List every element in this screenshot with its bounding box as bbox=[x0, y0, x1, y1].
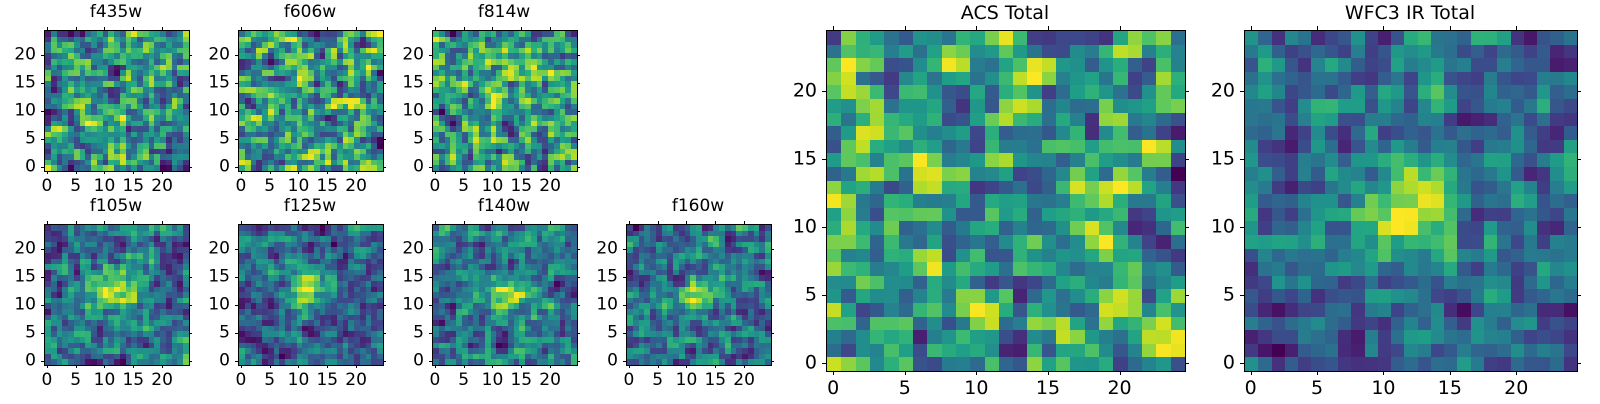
y-tick bbox=[41, 139, 44, 140]
y-tick-label: 20 bbox=[198, 47, 230, 64]
x-tick-label: 20 bbox=[539, 372, 561, 389]
x-tick-top bbox=[298, 221, 299, 224]
y-tick bbox=[429, 111, 432, 112]
x-tick-label: 5 bbox=[70, 178, 81, 195]
y-tick-label: 10 bbox=[1204, 218, 1235, 237]
panel-f814w: f814w0510152005101520 bbox=[392, 4, 616, 204]
y-tick-right bbox=[771, 249, 774, 250]
y-tick-label: 10 bbox=[392, 103, 424, 120]
y-tick-right bbox=[383, 139, 386, 140]
x-tick-label: 20 bbox=[151, 372, 173, 389]
x-tick-label: 15 bbox=[704, 372, 726, 389]
y-tick-right bbox=[383, 305, 386, 306]
y-tick bbox=[429, 83, 432, 84]
y-tick-right bbox=[577, 83, 580, 84]
x-tick-label: 5 bbox=[70, 372, 81, 389]
x-tick bbox=[298, 171, 299, 174]
x-tick-top bbox=[47, 27, 48, 30]
x-tick bbox=[241, 365, 242, 368]
x-tick-label: 15 bbox=[510, 178, 532, 195]
y-tick-label: 0 bbox=[786, 354, 817, 373]
pixel-grid bbox=[1245, 31, 1577, 371]
x-tick-label: 5 bbox=[1311, 379, 1323, 398]
y-tick-right bbox=[577, 277, 580, 278]
x-tick-label: 5 bbox=[458, 372, 469, 389]
y-tick-label: 10 bbox=[392, 297, 424, 314]
x-tick bbox=[464, 171, 465, 174]
heatmap-wfc3_ir_total bbox=[1244, 30, 1578, 372]
x-tick-label: 10 bbox=[288, 372, 310, 389]
x-tick-label: 0 bbox=[1245, 379, 1257, 398]
panel-wfc3_ir_total: WFC3 IR Total0510152005101520 bbox=[1204, 4, 1600, 404]
y-tick bbox=[822, 295, 826, 296]
x-tick-top bbox=[76, 27, 77, 30]
y-tick bbox=[822, 91, 826, 92]
y-tick bbox=[41, 305, 44, 306]
x-tick-top bbox=[133, 221, 134, 224]
y-tick-label: 5 bbox=[586, 325, 618, 342]
y-tick-right bbox=[383, 111, 386, 112]
y-tick-right bbox=[771, 277, 774, 278]
y-tick-label: 20 bbox=[392, 47, 424, 64]
x-tick-label: 15 bbox=[122, 372, 144, 389]
x-tick bbox=[715, 365, 716, 368]
x-tick bbox=[270, 365, 271, 368]
y-tick bbox=[429, 333, 432, 334]
x-tick-top bbox=[47, 221, 48, 224]
x-tick-top bbox=[464, 221, 465, 224]
x-tick bbox=[550, 365, 551, 368]
x-tick-label: 0 bbox=[623, 372, 634, 389]
x-tick-label: 0 bbox=[429, 372, 440, 389]
y-tick-label: 0 bbox=[4, 353, 36, 370]
x-tick bbox=[492, 365, 493, 368]
y-tick bbox=[41, 333, 44, 334]
y-tick bbox=[235, 111, 238, 112]
y-tick-right bbox=[189, 167, 192, 168]
x-tick-top bbox=[270, 221, 271, 224]
panel-f105w: f105w0510152005101520 bbox=[4, 198, 228, 398]
x-tick bbox=[47, 171, 48, 174]
y-tick bbox=[235, 277, 238, 278]
x-tick bbox=[76, 171, 77, 174]
y-tick-right bbox=[383, 55, 386, 56]
x-tick-top bbox=[1516, 26, 1517, 30]
y-tick-label: 0 bbox=[392, 159, 424, 176]
x-tick bbox=[629, 365, 630, 368]
x-tick-top bbox=[744, 221, 745, 224]
y-tick-label: 15 bbox=[586, 269, 618, 286]
y-tick bbox=[623, 277, 626, 278]
x-tick-top bbox=[521, 27, 522, 30]
y-tick-right bbox=[1577, 227, 1581, 228]
y-tick-label: 5 bbox=[392, 131, 424, 148]
y-tick bbox=[41, 83, 44, 84]
x-tick bbox=[327, 171, 328, 174]
x-tick-label: 10 bbox=[1371, 379, 1395, 398]
x-tick-top bbox=[435, 27, 436, 30]
y-tick-label: 15 bbox=[786, 150, 817, 169]
y-tick-right bbox=[383, 167, 386, 168]
x-tick bbox=[104, 171, 105, 174]
y-tick bbox=[235, 333, 238, 334]
x-tick bbox=[356, 171, 357, 174]
x-tick-top bbox=[1450, 26, 1451, 30]
y-tick-label: 15 bbox=[392, 75, 424, 92]
y-tick-label: 10 bbox=[4, 297, 36, 314]
pixel-grid bbox=[239, 225, 383, 365]
y-tick-right bbox=[1185, 295, 1189, 296]
x-tick bbox=[492, 171, 493, 174]
y-tick-right bbox=[577, 305, 580, 306]
x-tick bbox=[464, 365, 465, 368]
y-tick-label: 10 bbox=[198, 297, 230, 314]
y-tick-label: 5 bbox=[4, 131, 36, 148]
y-tick bbox=[429, 249, 432, 250]
y-tick bbox=[429, 305, 432, 306]
x-tick-top bbox=[1120, 26, 1121, 30]
y-tick-label: 20 bbox=[198, 241, 230, 258]
y-tick-right bbox=[189, 277, 192, 278]
panel-title-f814w: f814w bbox=[432, 4, 576, 21]
x-tick bbox=[1120, 371, 1121, 375]
y-tick-label: 0 bbox=[198, 159, 230, 176]
y-tick bbox=[1240, 227, 1244, 228]
x-tick-top bbox=[241, 27, 242, 30]
x-tick bbox=[241, 171, 242, 174]
x-tick bbox=[133, 171, 134, 174]
x-tick-label: 20 bbox=[1107, 379, 1131, 398]
x-tick bbox=[1383, 371, 1384, 375]
y-tick bbox=[822, 159, 826, 160]
y-tick-label: 20 bbox=[392, 241, 424, 258]
x-tick-top bbox=[356, 27, 357, 30]
x-tick-label: 5 bbox=[458, 178, 469, 195]
y-tick-label: 5 bbox=[392, 325, 424, 342]
x-tick bbox=[686, 365, 687, 368]
y-tick bbox=[235, 55, 238, 56]
y-tick-label: 5 bbox=[786, 286, 817, 305]
x-tick-label: 10 bbox=[964, 379, 988, 398]
y-tick-right bbox=[383, 333, 386, 334]
panel-title-f435w: f435w bbox=[44, 4, 188, 21]
x-tick bbox=[435, 365, 436, 368]
x-tick bbox=[1317, 371, 1318, 375]
x-tick bbox=[658, 365, 659, 368]
x-tick bbox=[356, 365, 357, 368]
y-tick-right bbox=[1185, 227, 1189, 228]
x-tick-label: 15 bbox=[316, 178, 338, 195]
panel-f160w: f160w0510152005101520 bbox=[586, 198, 810, 398]
y-tick bbox=[235, 305, 238, 306]
x-tick-label: 0 bbox=[429, 178, 440, 195]
y-tick-right bbox=[383, 249, 386, 250]
pixel-grid bbox=[45, 31, 189, 171]
x-tick bbox=[162, 171, 163, 174]
x-tick-top bbox=[356, 221, 357, 224]
x-tick-label: 20 bbox=[345, 178, 367, 195]
y-tick bbox=[623, 305, 626, 306]
x-tick-top bbox=[435, 221, 436, 224]
panel-title-acs_total: ACS Total bbox=[826, 4, 1184, 23]
y-tick bbox=[41, 249, 44, 250]
x-tick-label: 20 bbox=[733, 372, 755, 389]
heatmap-f160w bbox=[626, 224, 772, 366]
x-tick-label: 20 bbox=[1504, 379, 1528, 398]
y-tick bbox=[1240, 363, 1244, 364]
x-tick-label: 5 bbox=[264, 178, 275, 195]
x-tick-top bbox=[327, 27, 328, 30]
x-tick-top bbox=[521, 221, 522, 224]
x-tick bbox=[1516, 371, 1517, 375]
x-tick-label: 15 bbox=[1036, 379, 1060, 398]
y-tick-right bbox=[189, 249, 192, 250]
y-tick-label: 15 bbox=[4, 269, 36, 286]
heatmap-f435w bbox=[44, 30, 190, 172]
y-tick-right bbox=[383, 277, 386, 278]
x-tick-top bbox=[833, 26, 834, 30]
y-tick-label: 5 bbox=[198, 325, 230, 342]
y-tick-right bbox=[1185, 91, 1189, 92]
panel-title-f140w: f140w bbox=[432, 198, 576, 215]
x-tick bbox=[162, 365, 163, 368]
panel-title-f160w: f160w bbox=[626, 198, 770, 215]
panel-f125w: f125w0510152005101520 bbox=[198, 198, 422, 398]
x-tick-top bbox=[550, 221, 551, 224]
y-tick-right bbox=[577, 139, 580, 140]
y-tick-label: 10 bbox=[786, 218, 817, 237]
y-tick-right bbox=[577, 111, 580, 112]
y-tick-label: 15 bbox=[198, 75, 230, 92]
panel-f435w: f435w0510152005101520 bbox=[4, 4, 228, 204]
y-tick bbox=[429, 167, 432, 168]
x-tick-label: 15 bbox=[1438, 379, 1462, 398]
y-tick bbox=[41, 167, 44, 168]
panel-f606w: f606w0510152005101520 bbox=[198, 4, 422, 204]
panel-f140w: f140w0510152005101520 bbox=[392, 198, 616, 398]
x-tick-top bbox=[327, 221, 328, 224]
y-tick bbox=[1240, 91, 1244, 92]
x-tick bbox=[435, 171, 436, 174]
x-tick-label: 5 bbox=[652, 372, 663, 389]
x-tick-label: 5 bbox=[264, 372, 275, 389]
y-tick-right bbox=[1577, 91, 1581, 92]
y-tick-right bbox=[189, 55, 192, 56]
x-tick bbox=[744, 365, 745, 368]
panel-title-wfc3_ir_total: WFC3 IR Total bbox=[1244, 4, 1576, 23]
x-tick bbox=[976, 371, 977, 375]
x-tick-label: 15 bbox=[510, 372, 532, 389]
x-tick-top bbox=[270, 27, 271, 30]
y-tick-right bbox=[577, 167, 580, 168]
y-tick bbox=[41, 55, 44, 56]
x-tick-top bbox=[464, 27, 465, 30]
y-tick bbox=[41, 111, 44, 112]
y-tick-label: 20 bbox=[4, 47, 36, 64]
y-tick-right bbox=[189, 361, 192, 362]
y-tick-right bbox=[1185, 159, 1189, 160]
y-tick-right bbox=[189, 305, 192, 306]
heatmap-f125w bbox=[238, 224, 384, 366]
x-tick bbox=[327, 365, 328, 368]
x-tick-label: 0 bbox=[235, 178, 246, 195]
x-tick-top bbox=[104, 221, 105, 224]
x-tick-label: 15 bbox=[316, 372, 338, 389]
x-tick bbox=[47, 365, 48, 368]
x-tick-top bbox=[76, 221, 77, 224]
x-tick-top bbox=[1317, 26, 1318, 30]
y-tick bbox=[1240, 295, 1244, 296]
y-tick-right bbox=[1185, 363, 1189, 364]
x-tick bbox=[1048, 371, 1049, 375]
x-tick-top bbox=[162, 27, 163, 30]
y-tick-label: 0 bbox=[392, 353, 424, 370]
y-tick-label: 15 bbox=[4, 75, 36, 92]
y-tick-right bbox=[189, 333, 192, 334]
heatmap-f814w bbox=[432, 30, 578, 172]
y-tick bbox=[623, 249, 626, 250]
x-tick-label: 5 bbox=[899, 379, 911, 398]
pixel-grid bbox=[433, 225, 577, 365]
y-tick-label: 0 bbox=[586, 353, 618, 370]
y-tick-right bbox=[189, 83, 192, 84]
x-tick bbox=[1450, 371, 1451, 375]
y-tick bbox=[1240, 159, 1244, 160]
y-tick bbox=[235, 167, 238, 168]
y-tick-label: 10 bbox=[586, 297, 618, 314]
x-tick bbox=[133, 365, 134, 368]
y-tick-right bbox=[383, 83, 386, 84]
y-tick-right bbox=[1577, 159, 1581, 160]
y-tick-label: 20 bbox=[1204, 82, 1235, 101]
heatmap-f606w bbox=[238, 30, 384, 172]
y-tick bbox=[429, 277, 432, 278]
heatmap-acs_total bbox=[826, 30, 1186, 372]
y-tick bbox=[429, 55, 432, 56]
y-tick bbox=[235, 249, 238, 250]
x-tick bbox=[833, 371, 834, 375]
panel-title-f125w: f125w bbox=[238, 198, 382, 215]
panel-acs_total: ACS Total0510152005101520 bbox=[786, 4, 1224, 404]
y-tick-right bbox=[577, 361, 580, 362]
y-tick-label: 5 bbox=[198, 131, 230, 148]
y-tick bbox=[235, 361, 238, 362]
y-tick-label: 10 bbox=[4, 103, 36, 120]
y-tick-right bbox=[1577, 295, 1581, 296]
x-tick-top bbox=[104, 27, 105, 30]
y-tick-label: 0 bbox=[1204, 354, 1235, 373]
x-tick-label: 10 bbox=[482, 372, 504, 389]
x-tick-top bbox=[976, 26, 977, 30]
y-tick-right bbox=[771, 305, 774, 306]
x-tick bbox=[1251, 371, 1252, 375]
y-tick-right bbox=[577, 249, 580, 250]
x-tick-label: 10 bbox=[94, 372, 116, 389]
x-tick-top bbox=[241, 221, 242, 224]
x-tick bbox=[550, 171, 551, 174]
x-tick-label: 20 bbox=[345, 372, 367, 389]
x-tick-label: 15 bbox=[122, 178, 144, 195]
x-tick-top bbox=[715, 221, 716, 224]
y-tick-right bbox=[577, 55, 580, 56]
x-tick-top bbox=[162, 221, 163, 224]
y-tick bbox=[623, 361, 626, 362]
panel-title-f606w: f606w bbox=[238, 4, 382, 21]
x-tick bbox=[521, 365, 522, 368]
y-tick bbox=[822, 363, 826, 364]
y-tick-label: 10 bbox=[198, 103, 230, 120]
y-tick bbox=[235, 139, 238, 140]
y-tick-right bbox=[189, 111, 192, 112]
x-tick-top bbox=[686, 221, 687, 224]
pixel-grid bbox=[45, 225, 189, 365]
x-tick-label: 0 bbox=[235, 372, 246, 389]
x-tick-label: 10 bbox=[94, 178, 116, 195]
x-tick-top bbox=[1251, 26, 1252, 30]
y-tick bbox=[429, 139, 432, 140]
x-tick-label: 20 bbox=[151, 178, 173, 195]
y-tick bbox=[235, 83, 238, 84]
x-tick-top bbox=[550, 27, 551, 30]
y-tick-label: 15 bbox=[198, 269, 230, 286]
x-tick-label: 20 bbox=[539, 178, 561, 195]
y-tick-label: 20 bbox=[4, 241, 36, 258]
x-tick-label: 10 bbox=[676, 372, 698, 389]
y-tick bbox=[41, 277, 44, 278]
x-tick-top bbox=[658, 221, 659, 224]
x-tick-top bbox=[905, 26, 906, 30]
y-tick bbox=[429, 361, 432, 362]
x-tick-top bbox=[629, 221, 630, 224]
x-tick bbox=[521, 171, 522, 174]
x-tick-top bbox=[492, 27, 493, 30]
x-tick-top bbox=[133, 27, 134, 30]
x-tick bbox=[270, 171, 271, 174]
x-tick-label: 0 bbox=[41, 178, 52, 195]
y-tick-right bbox=[771, 333, 774, 334]
y-tick-right bbox=[383, 361, 386, 362]
x-tick-label: 0 bbox=[827, 379, 839, 398]
x-tick-top bbox=[492, 221, 493, 224]
panel-title-f105w: f105w bbox=[44, 198, 188, 215]
y-tick-right bbox=[771, 361, 774, 362]
y-tick bbox=[623, 333, 626, 334]
y-tick-right bbox=[577, 333, 580, 334]
x-tick-top bbox=[1383, 26, 1384, 30]
y-tick-label: 15 bbox=[392, 269, 424, 286]
x-tick bbox=[905, 371, 906, 375]
pixel-grid bbox=[827, 31, 1185, 371]
y-tick-right bbox=[189, 139, 192, 140]
y-tick-label: 15 bbox=[1204, 150, 1235, 169]
x-tick bbox=[298, 365, 299, 368]
x-tick bbox=[76, 365, 77, 368]
y-tick bbox=[822, 227, 826, 228]
y-tick-label: 5 bbox=[1204, 286, 1235, 305]
pixel-grid bbox=[433, 31, 577, 171]
x-tick-label: 10 bbox=[482, 178, 504, 195]
x-tick bbox=[104, 365, 105, 368]
y-tick-label: 20 bbox=[586, 241, 618, 258]
y-tick bbox=[41, 361, 44, 362]
y-tick-label: 0 bbox=[4, 159, 36, 176]
y-tick-label: 20 bbox=[786, 82, 817, 101]
x-tick-top bbox=[298, 27, 299, 30]
x-tick-label: 0 bbox=[41, 372, 52, 389]
heatmap-f140w bbox=[432, 224, 578, 366]
pixel-grid bbox=[239, 31, 383, 171]
y-tick-label: 0 bbox=[198, 353, 230, 370]
